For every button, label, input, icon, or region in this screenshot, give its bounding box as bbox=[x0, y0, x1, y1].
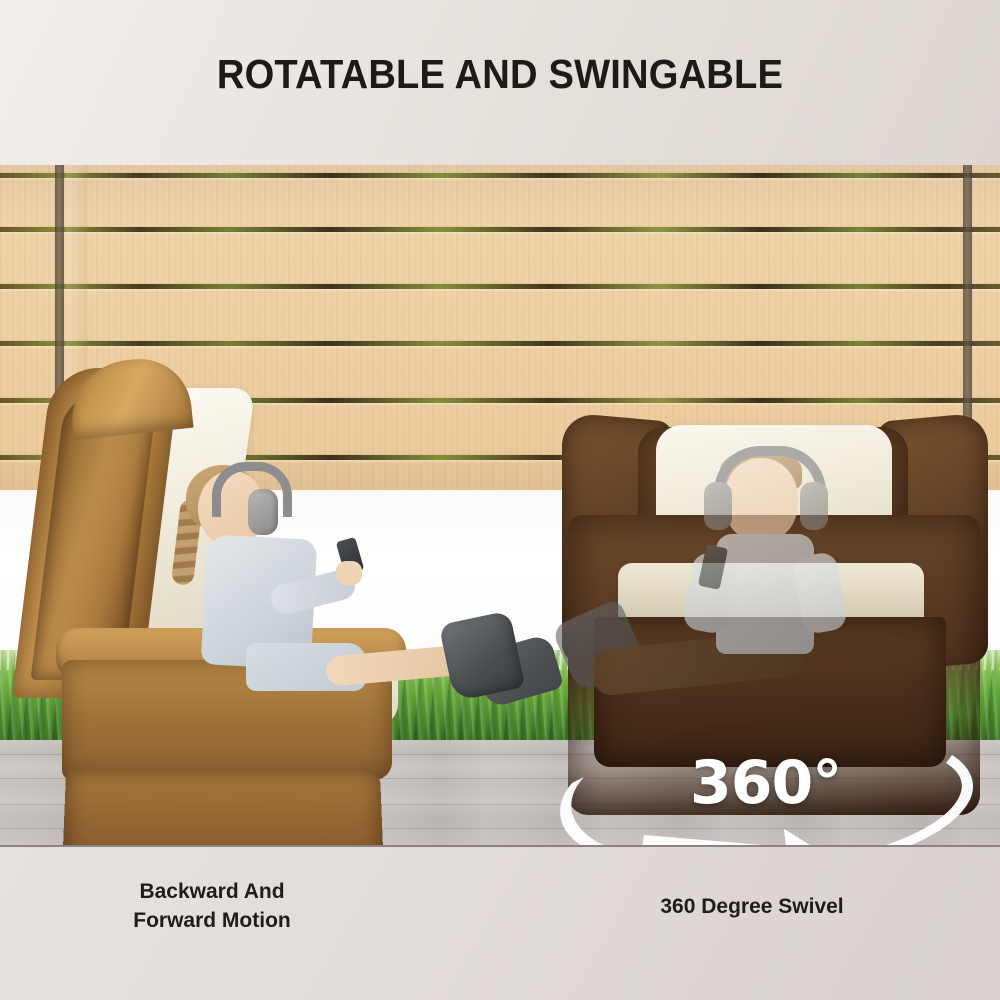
page-title: ROTATABLE AND SWINGABLE bbox=[35, 52, 965, 96]
360-degree-label: 360° bbox=[690, 753, 841, 813]
chair-wing bbox=[66, 354, 193, 440]
boot-near bbox=[439, 610, 526, 701]
chair-base-skirt bbox=[62, 769, 384, 845]
boy-seated-front-view-ghost bbox=[672, 450, 902, 700]
caption-line: 360 Degree Swivel bbox=[582, 892, 922, 921]
headphones-earcup-icon bbox=[248, 489, 278, 535]
product-photo-stage: 360° bbox=[0, 165, 1000, 845]
fence-slat-gap bbox=[0, 227, 1000, 232]
hand bbox=[336, 561, 362, 585]
header-band: ROTATABLE AND SWINGABLE bbox=[0, 0, 1000, 165]
headphones-earcup-left-icon bbox=[704, 482, 732, 530]
caption-band: Backward And Forward Motion 360 Degree S… bbox=[0, 845, 1000, 1000]
headphones-earcup-right-icon bbox=[800, 482, 828, 530]
caption-360-degree-swivel: 360 Degree Swivel bbox=[582, 892, 922, 921]
girl-seated-side-profile bbox=[150, 465, 550, 725]
caption-line: Backward And bbox=[62, 877, 362, 906]
fence-slat-gap bbox=[0, 341, 1000, 346]
fence-slat-gap bbox=[0, 284, 1000, 289]
caption-backward-forward-motion: Backward And Forward Motion bbox=[62, 877, 362, 935]
fence-slat-gap bbox=[0, 173, 1000, 178]
caption-line: Forward Motion bbox=[62, 906, 362, 935]
product-feature-image: ROTATABLE AND SWINGABLE bbox=[0, 0, 1000, 1000]
